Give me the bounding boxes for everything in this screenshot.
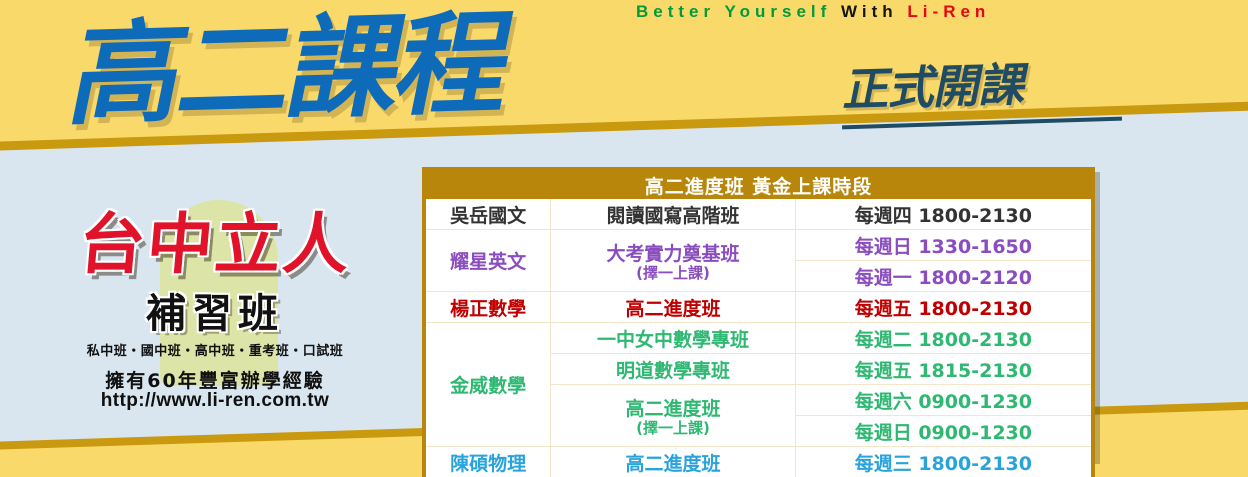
time-cell: 每週三 1800-2130 (795, 447, 1093, 477)
course-name: 高二進度班 (625, 453, 720, 475)
schedule-table-body: 吳岳國文閱讀國寫高階班每週四 1800-2130耀星英文大考實力奠基班(擇一上課… (424, 199, 1093, 477)
logo-website-url[interactable]: http://www.li-ren.com.tw (34, 390, 396, 412)
logo-experience: 擁有60年豐富辦學經驗 (34, 366, 396, 393)
time-cell: 每週一 1800-2120 (795, 261, 1093, 292)
time-cell: 每週日 0900-1230 (795, 416, 1093, 447)
course-name: 明道數學專班 (616, 360, 730, 382)
table-row: 金威數學一中女中數學專班每週二 1800-2130 (424, 323, 1093, 354)
course-name: 閱讀國寫高階班 (606, 205, 739, 227)
page-title: 高二課程 (61, 8, 518, 132)
teacher-cell: 耀星英文 (424, 230, 551, 292)
time-cell: 每週五 1815-2130 (795, 354, 1093, 385)
course-cell: 高二進度班 (551, 292, 795, 323)
time-cell: 每週六 0900-1230 (795, 385, 1093, 416)
course-name: 高二進度班 (625, 398, 720, 420)
tagline-part-1: Better Yourself (636, 2, 841, 21)
time-cell: 每週二 1800-2130 (795, 323, 1093, 354)
teacher-cell: 金威數學 (424, 323, 551, 447)
logo-type: 補習班 (34, 294, 396, 334)
course-note: (擇一上課) (551, 266, 794, 282)
teacher-cell: 陳碩物理 (424, 447, 551, 477)
course-name: 大考實力奠基班 (606, 243, 739, 265)
table-row: 楊正數學高二進度班每週五 1800-2130 (424, 292, 1093, 323)
table-row: 陳碩物理高二進度班每週三 1800-2130 (424, 447, 1093, 477)
tagline-part-2: With (841, 2, 907, 21)
schedule-table: 高二進度班 黃金上課時段 吳岳國文閱讀國寫高階班每週四 1800-2130耀星英… (422, 167, 1095, 477)
time-cell: 每週四 1800-2130 (795, 199, 1093, 230)
logo: 台中立人 補習班 私中班・國中班・高中班・重考班・口試班 擁有60年豐富辦學經驗… (34, 196, 396, 432)
table-row: 耀星英文大考實力奠基班(擇一上課)每週日 1330-1650 (424, 230, 1093, 261)
course-cell: 一中女中數學專班 (551, 323, 795, 354)
tagline-part-3: Li-Ren (907, 2, 990, 21)
logo-categories: 私中班・國中班・高中班・重考班・口試班 (34, 340, 396, 359)
page-subtitle: 正式開課 (841, 61, 1031, 112)
course-cell: 閱讀國寫高階班 (551, 199, 795, 230)
course-cell: 大考實力奠基班(擇一上課) (551, 230, 795, 292)
course-cell: 高二進度班 (551, 447, 795, 477)
table-row: 吳岳國文閱讀國寫高階班每週四 1800-2130 (424, 199, 1093, 230)
time-cell: 每週五 1800-2130 (795, 292, 1093, 323)
teacher-cell: 吳岳國文 (424, 199, 551, 230)
promo-banner: Better Yourself With Li-Ren 高二課程 正式開課 台中… (0, 0, 1248, 477)
course-cell: 明道數學專班 (551, 354, 795, 385)
time-cell: 每週日 1330-1650 (795, 230, 1093, 261)
schedule-table-header: 高二進度班 黃金上課時段 (424, 169, 1093, 199)
course-cell: 高二進度班(擇一上課) (551, 385, 795, 447)
teacher-cell: 楊正數學 (424, 292, 551, 323)
tagline: Better Yourself With Li-Ren (636, 2, 990, 22)
logo-name: 台中立人 (31, 212, 399, 278)
course-name: 一中女中數學專班 (597, 329, 749, 351)
course-name: 高二進度班 (625, 298, 720, 320)
course-note: (擇一上課) (551, 421, 794, 437)
